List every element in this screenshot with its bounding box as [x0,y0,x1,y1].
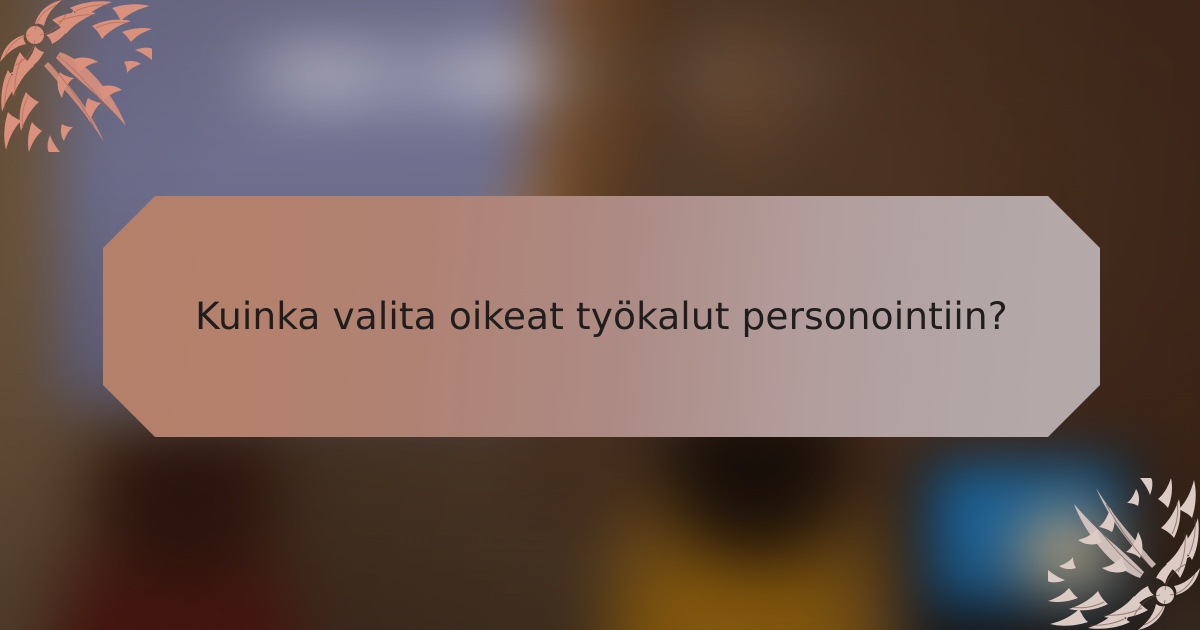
background-monitor-screen [932,466,1122,609]
background-audience-left [44,435,315,630]
background-audience-center [600,405,898,630]
page-title: Kuinka valita oikeat työkalut personoint… [195,293,1008,340]
headline-banner: Kuinka valita oikeat työkalut personoint… [103,196,1100,437]
poster-canvas: Kuinka valita oikeat työkalut personoint… [0,0,1200,630]
